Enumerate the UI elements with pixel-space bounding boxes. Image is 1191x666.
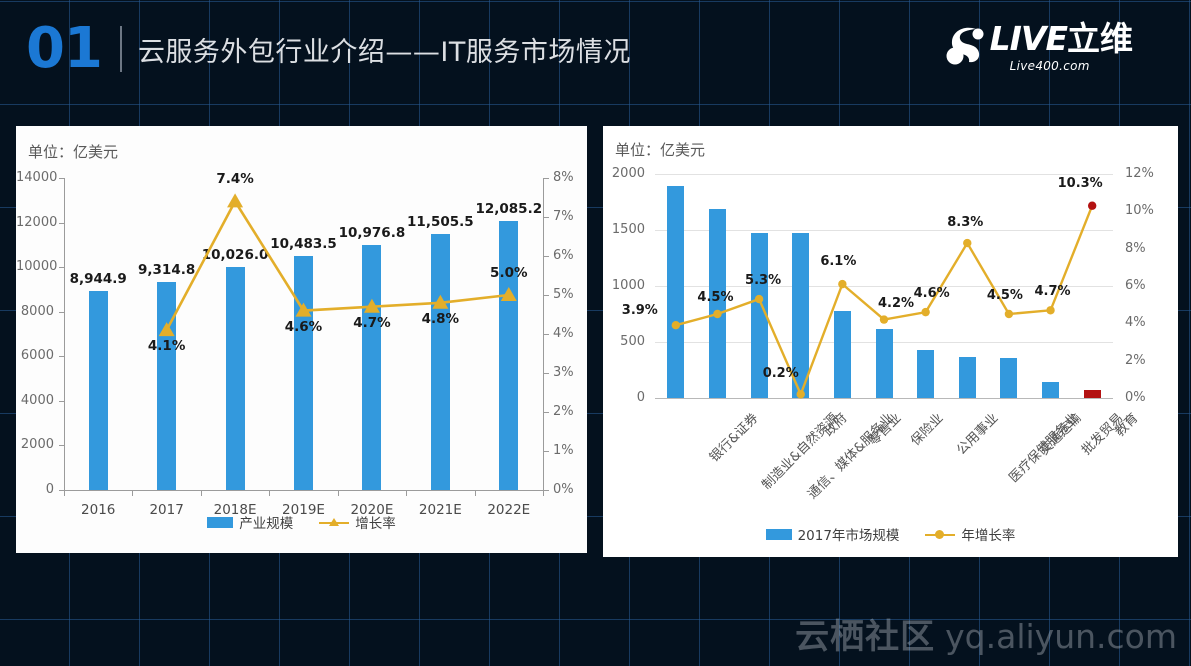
y2-tick — [544, 178, 549, 179]
brand-logo: LIVE立维 Live400.com — [942, 22, 1133, 73]
bar-2020E[interactable] — [362, 245, 381, 490]
page-number: 01 — [26, 21, 102, 77]
gridline — [655, 398, 1113, 399]
y-axis-label: 2000 — [16, 437, 54, 452]
page-title: 云服务外包行业介绍——IT服务市场情况 — [138, 30, 631, 69]
y2-axis-label: 1% — [553, 443, 574, 458]
x-axis-label-2022E: 2022E — [469, 502, 549, 518]
growth-value-label: 10.3% — [1052, 176, 1108, 191]
bar-value-label: 9,314.8 — [122, 262, 212, 278]
bar-保险业[interactable] — [876, 329, 893, 398]
legend-right: 2017年市场规模 年增长率 — [603, 524, 1178, 544]
bar-2017[interactable] — [157, 282, 176, 490]
y2-axis-label: 4% — [553, 326, 574, 341]
y2-tick — [544, 256, 549, 257]
bar-零售业[interactable] — [834, 311, 851, 398]
y2-axis-label: 6% — [553, 248, 574, 263]
y-axis-label: 10000 — [16, 259, 54, 274]
gridline — [655, 174, 1113, 175]
bar-2019E[interactable] — [294, 256, 313, 490]
legend-label-bar-right: 2017年市场规模 — [798, 524, 900, 544]
logo-word-cn: 立维 — [1067, 19, 1133, 58]
bar-批发贸易[interactable] — [1042, 382, 1059, 398]
y-tick — [59, 445, 64, 446]
y-axis-label: 2000 — [603, 166, 645, 181]
y-axis-label: 14000 — [16, 170, 54, 185]
bar-2016[interactable] — [89, 291, 108, 490]
y2-tick — [544, 451, 549, 452]
growth-value-label: 6.1% — [810, 254, 866, 269]
legend-item-line-right[interactable]: 年增长率 — [925, 524, 1015, 544]
x-axis-label-保险业: 保险业 — [905, 408, 946, 449]
y2-axis-label: 10% — [1125, 203, 1154, 218]
chart-panel-market-by-industry: 单位：亿美元 2017年市场规模 年增长率 05001000150020000%… — [603, 126, 1178, 557]
y2-tick — [544, 217, 549, 218]
growth-value-label: 4.1% — [132, 338, 202, 354]
x-axis-label-银行&证券: 银行&证券 — [704, 408, 761, 465]
y-axis-label: 0 — [603, 390, 645, 405]
y2-tick — [544, 412, 549, 413]
x-tick — [201, 491, 202, 496]
y2-axis-label: 8% — [1125, 241, 1146, 256]
logo-text: LIVE立维 Live400.com — [990, 22, 1133, 73]
x-tick — [269, 491, 270, 496]
y-tick — [59, 267, 64, 268]
watermark-brand: 云栖社区 — [795, 609, 935, 658]
y2-tick — [544, 295, 549, 296]
y2-tick — [544, 334, 549, 335]
bar-交通运输[interactable] — [1000, 358, 1017, 398]
y-axis-label: 500 — [603, 334, 645, 349]
growth-value-label: 4.7% — [337, 315, 407, 331]
growth-value-label: 4.6% — [904, 286, 960, 301]
slide-canvas: 01 云服务外包行业介绍——IT服务市场情况 LIVE立维 Live400.co… — [0, 0, 1191, 666]
growth-value-label: 4.8% — [405, 311, 475, 327]
bar-2021E[interactable] — [431, 234, 450, 490]
growth-value-label: 0.2% — [753, 366, 809, 381]
y-axis-label: 8000 — [16, 304, 54, 319]
legend-line-circle-icon — [925, 529, 955, 540]
x-tick — [543, 491, 544, 496]
watermark: 云栖社区 yq.aliyun.com — [795, 609, 1177, 658]
bar-公用事业[interactable] — [917, 350, 934, 398]
y2-tick — [544, 490, 549, 491]
y2-axis-label: 3% — [553, 365, 574, 380]
growth-value-label: 4.7% — [1025, 284, 1081, 299]
y-tick — [59, 312, 64, 313]
y-axis-label: 12000 — [16, 215, 54, 230]
y2-axis-label: 0% — [1125, 390, 1146, 405]
x-tick — [338, 491, 339, 496]
y-axis-label: 4000 — [16, 393, 54, 408]
unit-label-left: 单位：亿美元 — [28, 141, 118, 162]
bar-教育[interactable] — [1084, 390, 1101, 398]
y-axis-left — [64, 178, 65, 491]
slide-header: 01 云服务外包行业介绍——IT服务市场情况 — [26, 14, 631, 84]
x-axis-label-零售业: 零售业 — [864, 408, 905, 449]
legend-swatch-bar-icon — [766, 529, 792, 540]
x-tick — [475, 491, 476, 496]
logo-subtitle: Live400.com — [1010, 59, 1090, 73]
logo-word-en: LIVE — [990, 19, 1067, 58]
y2-axis-label: 8% — [553, 170, 574, 185]
x-tick — [406, 491, 407, 496]
live-node-mark-icon — [942, 23, 988, 69]
chart-panel-market-scale: 单位：亿美元 产业规模 增长率 020004000600080001000012… — [16, 126, 587, 553]
legend-line-triangle-icon — [319, 517, 349, 528]
y-tick — [59, 356, 64, 357]
bar-value-label: 12,085.2 — [464, 201, 554, 217]
growth-value-label: 8.3% — [937, 215, 993, 230]
unit-label-right: 单位：亿美元 — [615, 139, 705, 160]
growth-value-label: 7.4% — [200, 171, 270, 187]
y2-tick — [544, 373, 549, 374]
y2-axis-label: 2% — [553, 404, 574, 419]
x-tick — [132, 491, 133, 496]
bar-2022E[interactable] — [499, 221, 518, 490]
y-tick — [59, 401, 64, 402]
x-axis-label-公用事业: 公用事业 — [951, 408, 1001, 458]
y-tick — [59, 223, 64, 224]
y2-axis-label: 0% — [553, 482, 574, 497]
y-tick — [59, 178, 64, 179]
x-axis-left — [64, 490, 544, 491]
y2-axis-label: 2% — [1125, 353, 1146, 368]
logo-wordmark: LIVE立维 — [990, 22, 1133, 55]
legend-swatch-bar-icon — [207, 517, 233, 528]
legend-label-line-right: 年增长率 — [961, 524, 1015, 544]
growth-value-label: 5.3% — [735, 273, 791, 288]
bar-银行&证券[interactable] — [667, 186, 684, 398]
y2-axis-label: 5% — [553, 287, 574, 302]
y2-axis-label: 6% — [1125, 278, 1146, 293]
legend-item-bar-right[interactable]: 2017年市场规模 — [766, 524, 900, 544]
y-axis-label: 6000 — [16, 348, 54, 363]
y2-axis-label: 12% — [1125, 166, 1154, 181]
x-tick — [64, 491, 65, 496]
growth-value-label: 3.9% — [612, 303, 668, 318]
growth-value-label: 5.0% — [474, 265, 544, 281]
bar-医疗保健服务业[interactable] — [959, 357, 976, 398]
header-divider — [120, 26, 122, 72]
y-axis-label: 1000 — [603, 278, 645, 293]
y-axis-label: 1500 — [603, 222, 645, 237]
y2-axis-label: 4% — [1125, 315, 1146, 330]
bar-2018E[interactable] — [226, 267, 245, 490]
growth-value-label: 4.6% — [269, 319, 339, 335]
growth-value-label: 4.5% — [687, 290, 743, 305]
watermark-url: yq.aliyun.com — [945, 617, 1177, 656]
y-axis-label: 0 — [16, 482, 54, 497]
y2-axis-label: 7% — [553, 209, 574, 224]
